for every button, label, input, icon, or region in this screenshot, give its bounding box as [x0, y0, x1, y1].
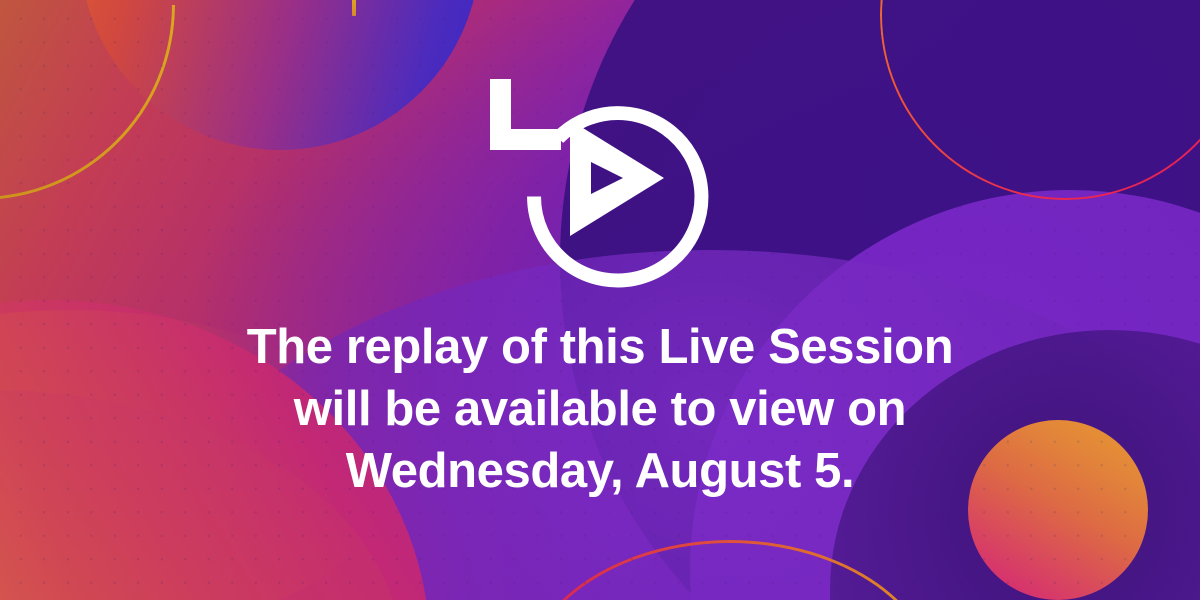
headline-line-3: Wednesday, August 5. [100, 440, 1100, 502]
play-triangle-icon [570, 120, 664, 236]
headline: The replay of this Live Session will be … [100, 316, 1100, 502]
banner-content: The replay of this Live Session will be … [0, 0, 1200, 600]
headline-line-2: will be available to view on [100, 378, 1100, 440]
headline-line-1: The replay of this Live Session [100, 316, 1100, 378]
replay-play-icon [482, 58, 718, 294]
replay-arrow-head [490, 79, 561, 150]
live-session-replay-banner: The replay of this Live Session will be … [0, 0, 1200, 600]
